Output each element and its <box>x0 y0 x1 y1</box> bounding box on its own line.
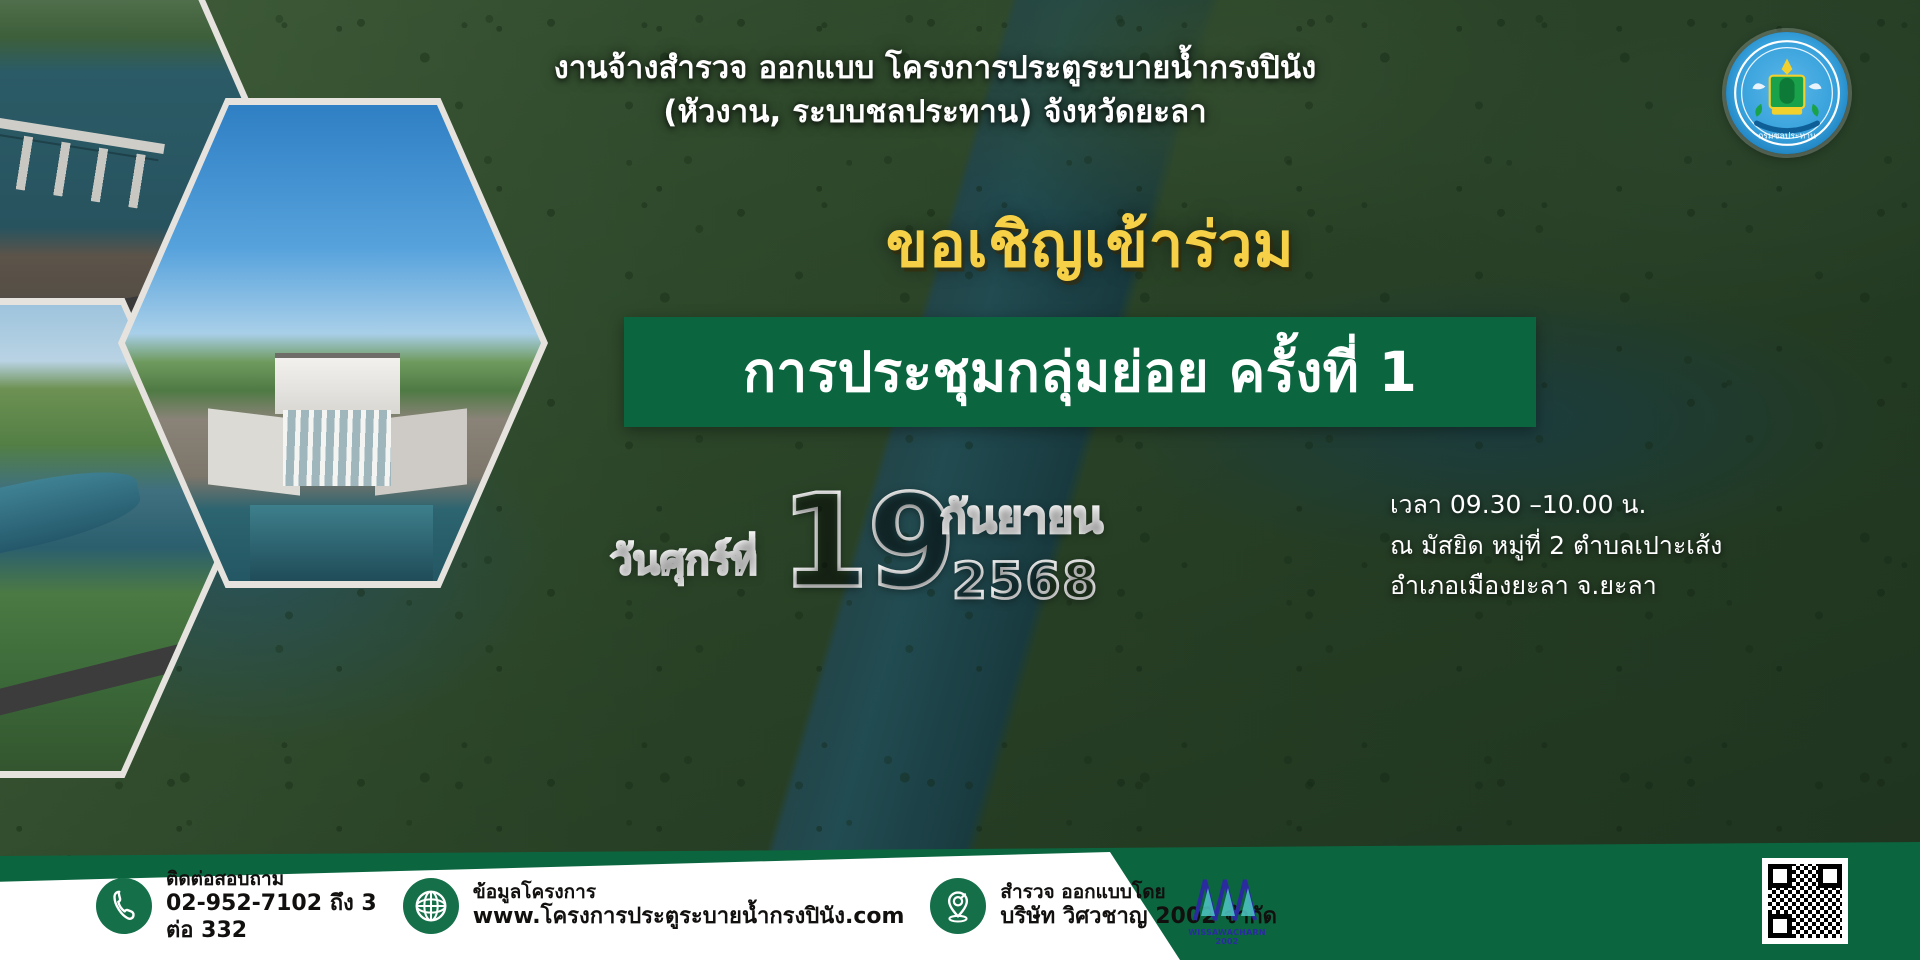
sluice-gate-house <box>275 353 400 415</box>
project-info-label: ข้อมูลโครงการ <box>473 881 905 904</box>
meeting-title-text: การประชุมกลุ่มย่อย ครั้งที่ 1 <box>743 345 1417 400</box>
project-title-line-1: งานจ้างสำรวจ ออกแบบ โครงการประตูระบายน้ำ… <box>470 46 1400 90</box>
globe-icon <box>403 878 459 934</box>
event-date-block: วันศุกร์ที่ 19 กันยายน 2568 <box>600 470 1160 630</box>
event-district: อำเภอเมืองยะลา จ.ยะลา <box>1390 566 1722 607</box>
canal-water <box>0 460 145 587</box>
event-month: กันยายน <box>940 482 1103 552</box>
meeting-title-bar: การประชุมกลุ่มย่อย ครั้งที่ 1 <box>624 317 1536 427</box>
contact-phone: 02-952-7102 ถึง 3 <box>166 891 377 918</box>
footer-contact-row: ติดต่อสอบถาม 02-952-7102 ถึง 3 ต่อ 332 ข… <box>0 852 1340 960</box>
poster-canvas: งานจ้างสำรวจ ออกแบบ โครงการประตูระบายน้ำ… <box>0 0 1920 960</box>
sluice-spillway <box>283 410 391 486</box>
wissawacharn-logo-caption: WISSAWACHARN 2002 <box>1186 928 1268 946</box>
sluice-tailwater <box>250 505 433 581</box>
project-title-line-2: (หัวงาน, ระบบชลประทาน) จังหวัดยะลา <box>470 90 1400 134</box>
event-year: 2568 <box>952 552 1099 610</box>
wissawacharn-logo: WISSAWACHARN 2002 <box>1186 874 1268 946</box>
phone-icon <box>96 878 152 934</box>
event-venue: ณ มัสยิด หมู่ที่ 2 ตำบลเปาะเส้ง <box>1390 526 1722 567</box>
map-pin-search-icon <box>930 878 986 934</box>
event-details: เวลา 09.30 –10.00 น. ณ มัสยิด หมู่ที่ 2 … <box>1390 485 1722 607</box>
contact-extension: ต่อ 332 <box>166 918 377 945</box>
event-time: เวลา 09.30 –10.00 น. <box>1390 485 1722 526</box>
qr-finder-top-left <box>1768 864 1792 888</box>
project-title: งานจ้างสำรวจ ออกแบบ โครงการประตูระบายน้ำ… <box>470 46 1400 134</box>
project-info-website[interactable]: www.โครงการประตูระบายน้ำกรงปินัง.com <box>473 904 905 931</box>
event-day-number: 19 <box>780 468 954 617</box>
event-day-of-week: วันศุกร์ที่ <box>610 528 757 592</box>
footer-project-info-item[interactable]: ข้อมูลโครงการ www.โครงการประตูระบายน้ำกร… <box>403 878 905 934</box>
svg-text:กรมชลประทาน: กรมชลประทาน <box>1758 131 1816 141</box>
contact-label: ติดต่อสอบถาม <box>166 868 377 891</box>
qr-finder-bottom-left <box>1768 914 1792 938</box>
qr-code[interactable] <box>1762 858 1848 944</box>
footer-contact-item[interactable]: ติดต่อสอบถาม 02-952-7102 ถึง 3 ต่อ 332 <box>96 868 377 945</box>
qr-finder-top-right <box>1818 864 1842 888</box>
invitation-headline: ขอเชิญเข้าร่วม <box>620 212 1560 277</box>
qr-code-pattern <box>1768 864 1842 938</box>
royal-irrigation-department-emblem-icon: กรมชลประทาน <box>1726 32 1848 154</box>
